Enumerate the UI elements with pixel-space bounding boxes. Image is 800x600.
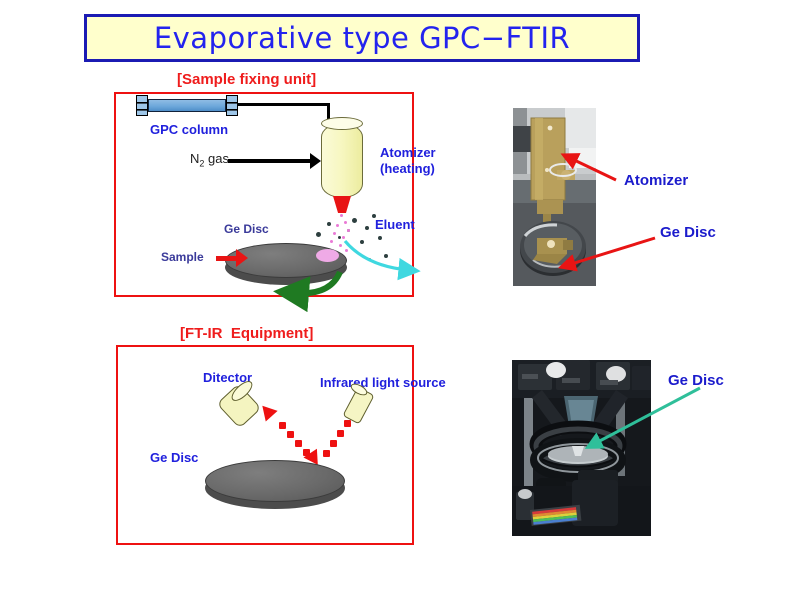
spray-mist-particle (347, 229, 350, 232)
atomizer-top-ellipse (321, 117, 363, 130)
label-n2-gas-tail: gas (204, 151, 229, 166)
sample-deposit-spot (316, 249, 339, 262)
spray-droplet (316, 232, 321, 237)
ir-beam-dot (303, 449, 310, 456)
gpc-column-end-cap-left (136, 95, 148, 116)
atomizer-cylinder (321, 123, 363, 198)
photo-bottom-content (512, 360, 651, 536)
photo-label-atomizer: Atomizer (624, 172, 688, 189)
photo-ftir-sample-holder (512, 360, 651, 536)
label-gpc-column: GPC column (150, 122, 228, 137)
photo-atomizer-and-ge-disc (513, 108, 596, 286)
ge-disc-lower (205, 460, 345, 502)
gpc-column-end-cap-right (226, 95, 238, 116)
spray-mist-particle (336, 224, 339, 227)
spray-droplet (378, 236, 382, 240)
label-n2-gas: N2 gas (190, 151, 229, 169)
label-ge-disc-lower: Ge Disc (150, 450, 198, 465)
label-atomizer: Atomizer (380, 145, 436, 160)
spray-mist-particle (342, 236, 345, 239)
label-atomizer-heating: (heating) (380, 161, 435, 176)
spray-droplet (327, 222, 331, 226)
spray-droplet (352, 218, 357, 223)
label-eluent: Eluent (375, 217, 415, 232)
ir-beam-dot (279, 422, 286, 429)
spray-droplet (338, 236, 341, 239)
ir-beam-dot (287, 431, 294, 438)
spray-mist-particle (344, 221, 347, 224)
photo-top-content (513, 108, 596, 286)
gpc-column-body (148, 99, 226, 112)
label-ge-disc-upper: Ge Disc (224, 222, 269, 236)
ir-beam-dot (344, 420, 351, 427)
spray-mist-particle (333, 232, 336, 235)
ir-beam-dot (337, 430, 344, 437)
ge-disc-surface (205, 460, 345, 502)
photo-label-ge-disc-top: Ge Disc (660, 224, 716, 241)
section-caption-sample-fixing-unit: [Sample fixing unit] (177, 71, 316, 88)
spray-droplet (365, 226, 369, 230)
page-title: Evaporative type GPC−FTIR (87, 17, 637, 59)
spray-droplet (368, 258, 371, 261)
ir-beam-dot (295, 440, 302, 447)
spray-mist-particle (340, 214, 343, 217)
label-n2-gas-element: N (190, 151, 199, 166)
slide-title-box: Evaporative type GPC−FTIR (84, 14, 640, 62)
photo-label-ge-disc-bottom: Ge Disc (668, 372, 724, 389)
transfer-pipe-horizontal (238, 103, 330, 106)
ir-beam-dot (330, 440, 337, 447)
spray-droplet (360, 240, 364, 244)
spray-droplet (384, 254, 388, 258)
ir-beam-dot (323, 450, 330, 457)
n2-gas-arrow-line (228, 159, 314, 163)
n2-gas-arrow-head-icon (310, 153, 321, 169)
label-infrared-light-source: Infrared light source (320, 375, 446, 390)
section-caption-ftir-equipment: [FT-IR Equipment] (180, 325, 313, 342)
sample-arrow-head-icon (236, 249, 248, 267)
label-sample: Sample (161, 250, 204, 264)
